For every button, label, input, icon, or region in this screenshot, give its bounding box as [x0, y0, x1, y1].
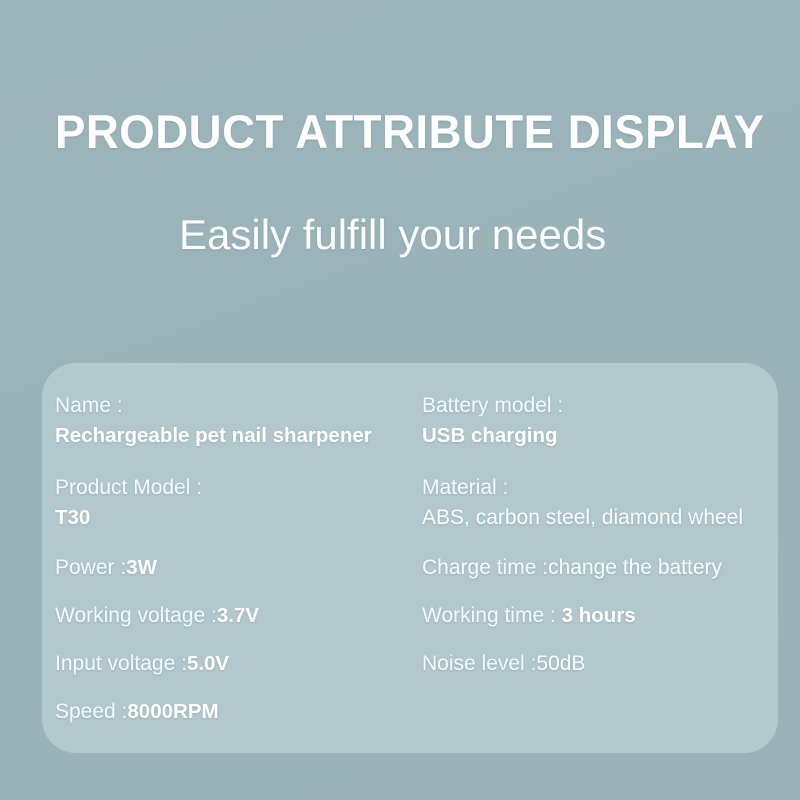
spec-row: Name :Rechargeable pet nail sharpener: [55, 391, 372, 451]
spec-label: Battery model :: [422, 391, 563, 421]
spec-value: 3W: [126, 556, 157, 579]
spec-value: 3 hours: [562, 604, 636, 627]
spec-row: Charge time :change the battery: [422, 553, 722, 583]
spec-value: change the battery: [548, 556, 722, 579]
product-attribute-display-page: PRODUCT ATTRIBUTE DISPLAY Easily fulfill…: [0, 0, 800, 800]
spec-row: Material :ABS, carbon steel, diamond whe…: [422, 473, 743, 533]
spec-card: Name :Rechargeable pet nail sharpenerPro…: [42, 363, 778, 753]
spec-label: Product Model :: [55, 473, 202, 503]
spec-row: Power :3W: [55, 553, 157, 583]
spec-label: Speed :: [55, 700, 127, 723]
spec-value: 50dB: [536, 652, 585, 675]
spec-value: 3.7V: [217, 604, 259, 627]
page-subtitle: Easily fulfill your needs: [179, 211, 606, 259]
spec-row: Speed :8000RPM: [55, 697, 219, 727]
spec-row: Working voltage :3.7V: [55, 601, 259, 631]
spec-row: Battery model :USB charging: [422, 391, 563, 451]
spec-label: Working time :: [422, 604, 562, 627]
spec-label: Working voltage :: [55, 604, 217, 627]
spec-label: Power :: [55, 556, 126, 579]
spec-label: Name :: [55, 391, 372, 421]
spec-row: Product Model :T30: [55, 473, 202, 533]
spec-row: Noise level :50dB: [422, 649, 585, 679]
spec-value: ABS, carbon steel, diamond wheel: [422, 503, 743, 533]
spec-label: Material :: [422, 473, 743, 503]
spec-value: USB charging: [422, 421, 563, 451]
spec-row: Input voltage :5.0V: [55, 649, 229, 679]
spec-value: 8000RPM: [127, 700, 218, 723]
spec-value: T30: [55, 503, 202, 533]
spec-label: Charge time :: [422, 556, 548, 579]
spec-label: Noise level :: [422, 652, 536, 675]
page-title: PRODUCT ATTRIBUTE DISPLAY: [55, 104, 765, 159]
spec-value: 5.0V: [187, 652, 229, 675]
spec-value: Rechargeable pet nail sharpener: [55, 421, 372, 451]
spec-row: Working time : 3 hours: [422, 601, 636, 631]
spec-label: Input voltage :: [55, 652, 187, 675]
